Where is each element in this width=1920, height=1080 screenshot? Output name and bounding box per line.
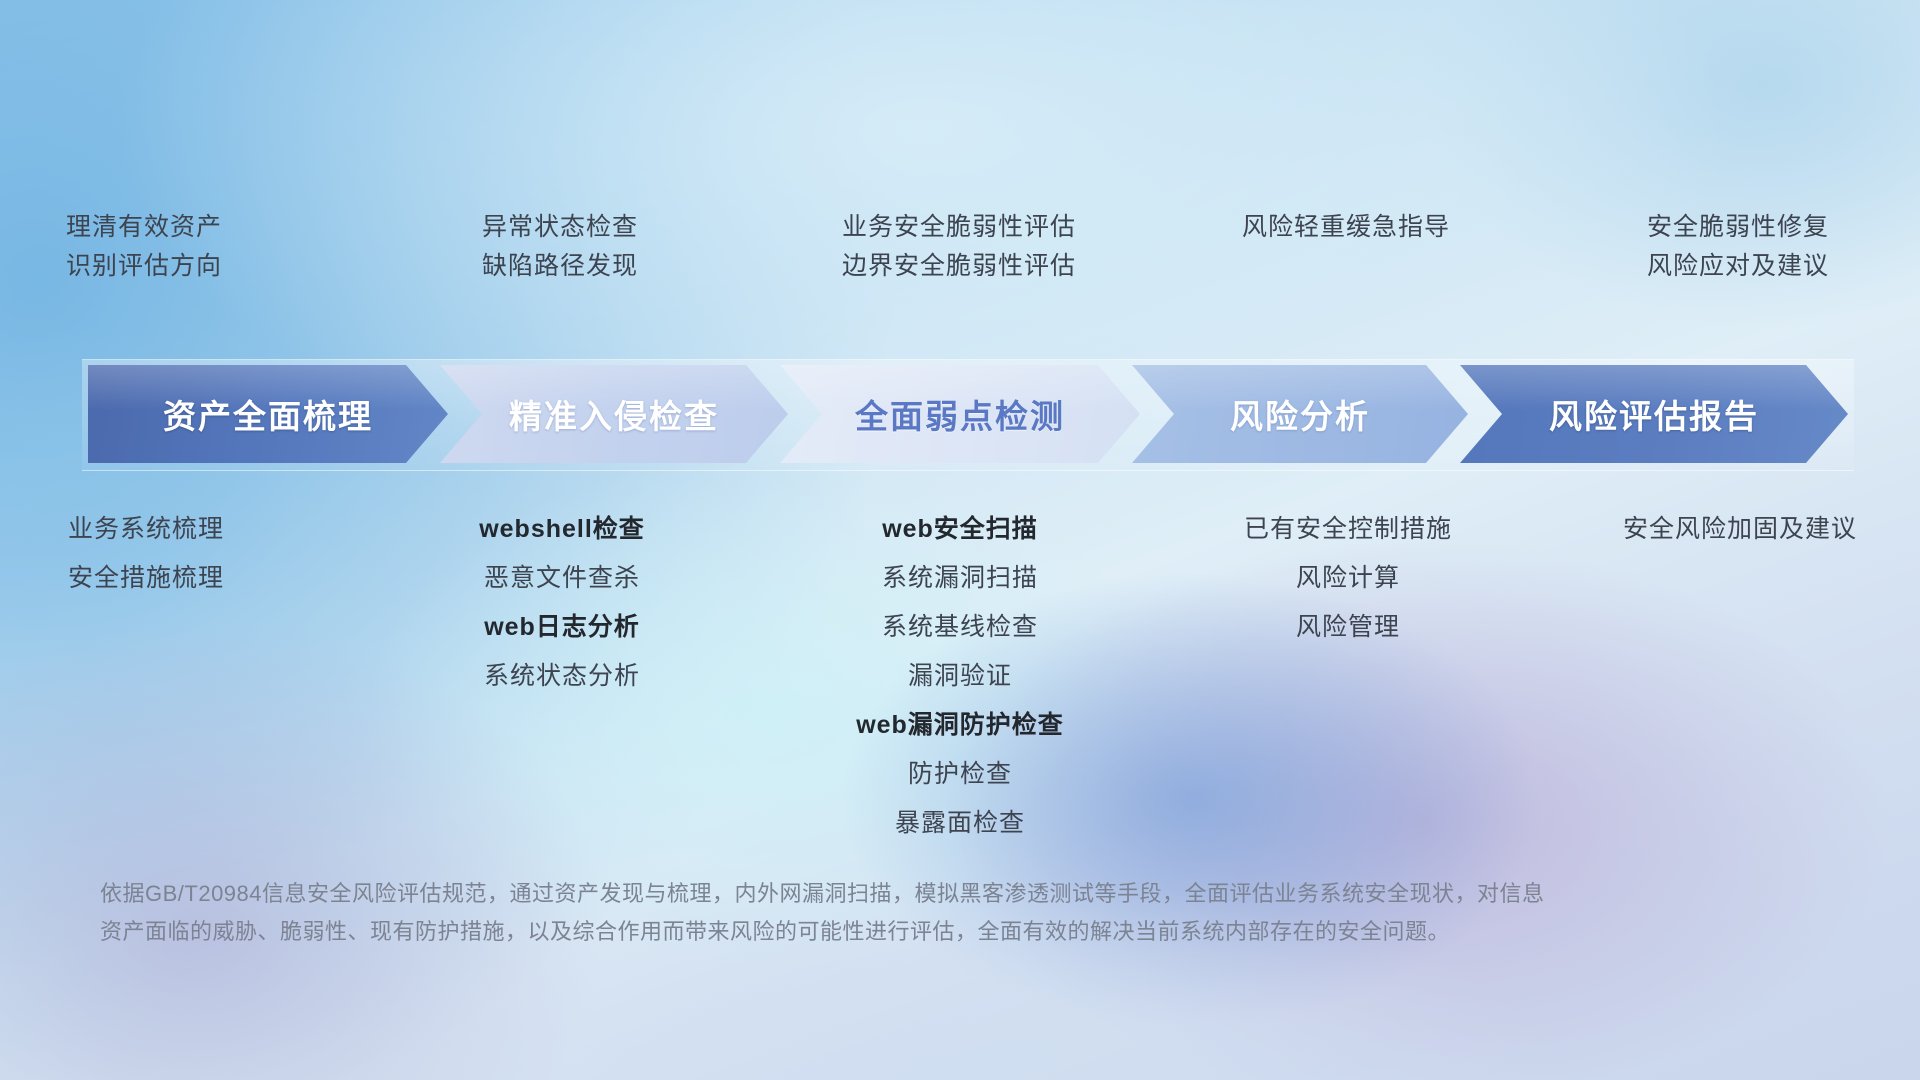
list-item: 风险计算 xyxy=(1296,554,1400,603)
bottom-list-stage-2: webshell检查 恶意文件查杀 web日志分析 系统状态分析 xyxy=(370,505,754,848)
bottom-list-stage-1: 业务系统梳理 安全措施梳理 xyxy=(0,505,338,848)
list-item: 漏洞验证 xyxy=(908,652,1012,701)
bottom-lists-band: 业务系统梳理 安全措施梳理 webshell检查 恶意文件查杀 web日志分析 … xyxy=(0,505,1920,845)
list-item: 风险管理 xyxy=(1296,603,1400,652)
stage-arrow-4[interactable]: 风险分析 xyxy=(1132,365,1468,463)
bottom-list-stage-4: 已有安全控制措施 风险计算 风险管理 xyxy=(1156,505,1540,848)
stage-arrow-label: 资产全面梳理 xyxy=(163,390,373,438)
bottom-list-stage-3: web安全扫描 系统漏洞扫描 系统基线检查 漏洞验证 web漏洞防护检查 防护检… xyxy=(768,505,1152,848)
diagram-stage: 理清有效资产 识别评估方向 异常状态检查 缺陷路径发现 业务安全脆弱性评估 边界… xyxy=(0,0,1920,1080)
top-label: 缺陷路径发现 xyxy=(482,254,638,279)
list-item: 防护检查 xyxy=(908,750,1012,799)
stage-arrow-label: 风险评估报告 xyxy=(1549,390,1759,438)
stage-arrow-3[interactable]: 全面弱点检测 xyxy=(780,365,1140,463)
stage-arrow-label: 风险分析 xyxy=(1230,390,1370,438)
top-labels-band: 理清有效资产 识别评估方向 异常状态检查 缺陷路径发现 业务安全脆弱性评估 边界… xyxy=(0,215,1920,325)
top-label: 风险轻重缓急指导 xyxy=(1242,215,1450,240)
list-item: 系统状态分析 xyxy=(484,652,640,701)
top-label: 安全脆弱性修复 xyxy=(1647,215,1829,240)
top-label: 业务安全脆弱性评估 xyxy=(842,215,1076,240)
top-labels-stage-2: 异常状态检查 缺陷路径发现 xyxy=(368,215,752,325)
footer-description: 依据GB/T20984信息安全风险评估规范，通过资产发现与梳理，内外网漏洞扫描，… xyxy=(100,875,1660,951)
stage-arrow-1[interactable]: 资产全面梳理 xyxy=(88,365,448,463)
bottom-list-stage-5: 安全风险加固及建议 xyxy=(1548,505,1920,848)
list-item: 系统漏洞扫描 xyxy=(882,554,1038,603)
list-item: 安全措施梳理 xyxy=(68,554,224,603)
footer-line-2: 资产面临的威胁、脆弱性、现有防护措施，以及综合作用而带来风险的可能性进行评估，全… xyxy=(100,913,1660,951)
list-item: 暴露面检查 xyxy=(895,799,1025,848)
stage-arrow-label: 全面弱点检测 xyxy=(855,390,1065,438)
top-labels-stage-4: 风险轻重缓急指导 xyxy=(1154,215,1538,325)
footer-line-1: 依据GB/T20984信息安全风险评估规范，通过资产发现与梳理，内外网漏洞扫描，… xyxy=(100,875,1660,913)
list-item: web日志分析 xyxy=(484,603,640,652)
top-label: 理清有效资产 xyxy=(66,215,222,240)
list-item: webshell检查 xyxy=(479,505,645,554)
top-label: 风险应对及建议 xyxy=(1647,254,1829,279)
stage-arrow-2[interactable]: 精准入侵检查 xyxy=(440,365,788,463)
top-label: 边界安全脆弱性评估 xyxy=(842,254,1076,279)
stage-arrow-5[interactable]: 风险评估报告 xyxy=(1460,365,1848,463)
list-item: web漏洞防护检查 xyxy=(856,701,1064,750)
list-item: 已有安全控制措施 xyxy=(1244,505,1452,554)
top-labels-stage-1: 理清有效资产 识别评估方向 xyxy=(0,215,336,325)
list-item: 系统基线检查 xyxy=(882,603,1038,652)
top-label: 异常状态检查 xyxy=(482,215,638,240)
list-item: 业务系统梳理 xyxy=(68,505,224,554)
process-arrow-ribbon: 资产全面梳理 精准入侵检查 全面弱点检测 风险分析 风险评估报告 xyxy=(88,365,1848,463)
top-labels-stage-5: 安全脆弱性修复 风险应对及建议 xyxy=(1546,215,1920,325)
top-label: 识别评估方向 xyxy=(66,254,222,279)
list-item: web安全扫描 xyxy=(882,505,1038,554)
stage-arrow-label: 精准入侵检查 xyxy=(509,390,719,438)
top-labels-stage-3: 业务安全脆弱性评估 边界安全脆弱性评估 xyxy=(767,215,1151,325)
list-item: 安全风险加固及建议 xyxy=(1623,505,1857,554)
list-item: 恶意文件查杀 xyxy=(484,554,640,603)
